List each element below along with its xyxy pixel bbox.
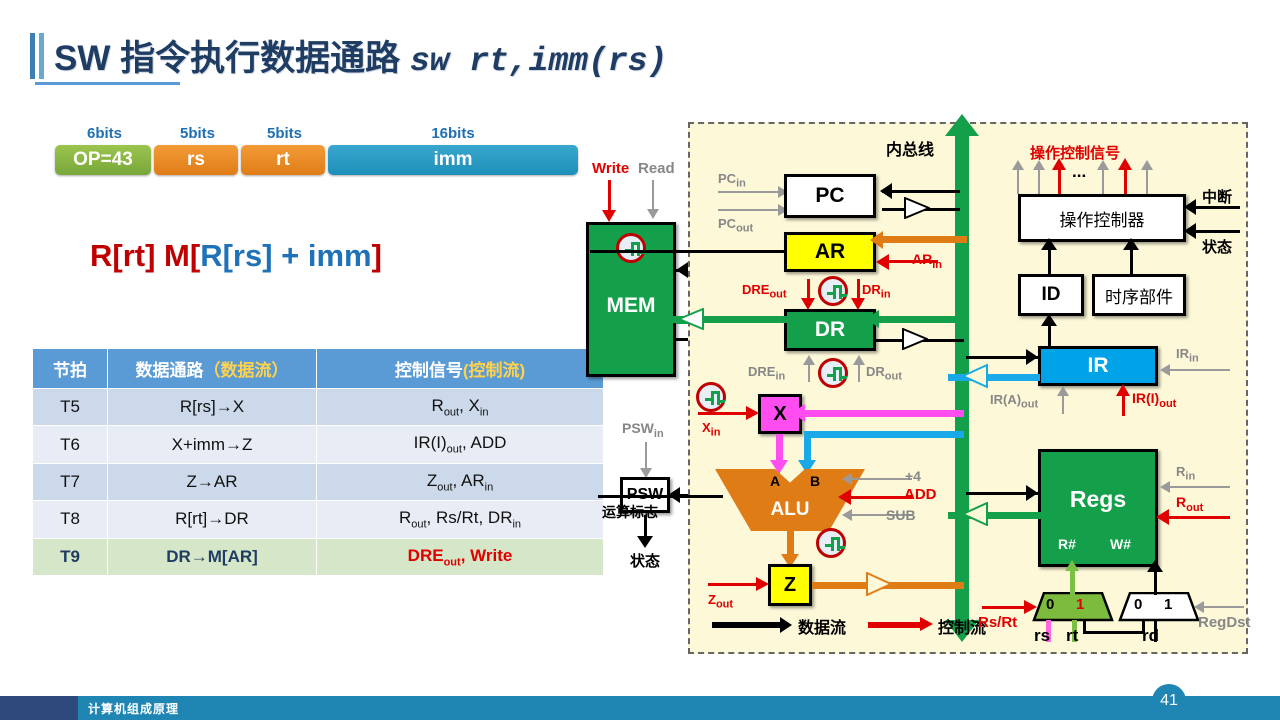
x-bus-in-arrow-icon xyxy=(792,404,805,422)
timing-to-controller-line xyxy=(1130,246,1133,274)
ctrl-sig-1-arrow-icon xyxy=(1012,160,1024,170)
ir-tristate-buffer-icon xyxy=(962,364,988,388)
th-datapath: 数据通路（数据流） xyxy=(108,349,317,389)
field-rt: rt xyxy=(241,145,325,175)
ar-in-label: ARin xyxy=(912,251,942,271)
internal-bus-label: 内总线 xyxy=(886,136,934,160)
formula-prefix: R[rt] M xyxy=(90,238,190,273)
regdst-ctrl-label: RegDst xyxy=(1198,614,1251,631)
interrupt-arrow-icon xyxy=(1184,199,1196,215)
legend-data-line xyxy=(712,622,782,628)
status-line xyxy=(1192,230,1240,233)
th-beat: 节拍 xyxy=(33,349,108,389)
ar-in-ctrl-arrow-icon xyxy=(876,254,889,270)
alu-sub-arrow-icon xyxy=(842,509,852,521)
status-arrow-icon xyxy=(1184,223,1196,239)
psw-in-line xyxy=(645,442,647,470)
pc-bus-in-line xyxy=(882,190,960,193)
field-op: OP=43 xyxy=(55,145,151,175)
footer-bar xyxy=(0,696,1280,720)
legend-ctrl-arrow-icon xyxy=(920,617,933,631)
ctrl-sig-6-arrow-icon xyxy=(1141,160,1153,170)
datapath-panel: 内总线 PCin PCout PC AR ARin DREout DRin DR xyxy=(688,122,1248,654)
clock-icon-mem xyxy=(616,233,646,263)
alu-sub-label: SUB xyxy=(886,507,916,523)
alu-plus4-arrow-icon xyxy=(842,473,852,485)
mem-write-arrow-icon xyxy=(602,210,616,222)
z-out-label: Zout xyxy=(708,592,733,611)
id-to-controller-arrow-icon xyxy=(1041,238,1057,250)
ar-to-mem-line xyxy=(590,250,786,253)
cell-beat: T8 xyxy=(33,501,108,538)
cell-datapath: R[rt]→DR xyxy=(108,501,317,538)
legend-data-label: 数据流 xyxy=(798,614,846,638)
slide-title: SW 指令执行数据通路 sw rt,imm(rs) xyxy=(30,30,667,81)
mem-write-line xyxy=(608,180,611,212)
ir-in-line xyxy=(1168,369,1230,371)
cell-beat: T7 xyxy=(33,463,108,500)
z-tristate-buffer-icon xyxy=(866,572,892,596)
z-out-ctrl-arrow-icon xyxy=(756,577,769,591)
dr-out-buffer-icon xyxy=(678,308,704,330)
ctrl-sig-4-arrow-icon xyxy=(1097,160,1109,170)
x-in-label: Xin xyxy=(702,420,720,439)
cell-datapath: Z→AR xyxy=(108,463,317,500)
rt-to-regdst-line xyxy=(1083,631,1145,634)
internal-bus-top-arrow-icon xyxy=(945,114,979,136)
x-in-ctrl-line xyxy=(698,412,750,415)
cell-control: DREout, Write xyxy=(317,538,604,575)
alu-plus4-line xyxy=(850,478,912,480)
ir-in-label: IRin xyxy=(1176,346,1199,365)
legend-data-arrow-icon xyxy=(780,617,792,633)
mux-rs-rt[interactable] xyxy=(1032,592,1114,622)
dr-bus-in-arrow-icon xyxy=(866,310,879,328)
cell-control: IR(I)out, ADD xyxy=(317,426,604,463)
alu-plus4-label: +4 xyxy=(905,468,921,484)
dr-to-mem-band xyxy=(640,316,790,323)
footer-course-title: 计算机组成原理 xyxy=(88,700,179,717)
ctrl-sig-3-arrow-icon xyxy=(1052,158,1066,170)
dr-tristate-buffer-icon xyxy=(902,328,928,350)
field-rs: rs xyxy=(154,145,238,175)
rs-label: rs xyxy=(1034,626,1050,646)
ctrl-sig-5 xyxy=(1124,166,1127,194)
alu-port-a-label: A xyxy=(770,473,780,489)
alu-flags-label: 运算标志 xyxy=(602,502,658,522)
rt-label: rt xyxy=(1066,626,1078,646)
table-row: T7 Z→AR Zout, ARin xyxy=(33,463,604,500)
ctrl-sig-2-arrow-icon xyxy=(1033,160,1045,170)
table-row: T6 X+imm→Z IR(I)out, ADD xyxy=(33,426,604,463)
title-mnemonic: sw rt,imm(rs) xyxy=(410,43,667,80)
clock-icon-dr-bottom xyxy=(818,358,848,388)
bus-to-alu-b-band xyxy=(804,431,964,438)
regs-r-out-line xyxy=(1168,516,1230,519)
bits-op: 6bits xyxy=(55,125,154,142)
mux-regdst-zero-label: 0 xyxy=(1134,596,1142,613)
psw-status-label: 状态 xyxy=(630,550,660,571)
pc-bus-in-arrow-icon xyxy=(880,183,892,199)
formula-close: ] xyxy=(372,238,382,273)
ir-a-out-arrow-icon xyxy=(1057,386,1069,396)
regs-r-out-label: Rout xyxy=(1176,494,1203,514)
bus-to-alu-b-drop xyxy=(804,431,811,463)
mem-read-label: Read xyxy=(638,160,675,177)
page-number-badge: 41 xyxy=(1152,684,1186,718)
regdst-ctrl-line xyxy=(1202,606,1244,608)
ctrl-sig-4 xyxy=(1102,166,1104,194)
instruction-fields: OP=43 rs rt imm xyxy=(55,145,581,175)
ir-to-id-arrow-icon xyxy=(1041,314,1057,326)
mux-rs-rt-one-label: 1 xyxy=(1076,596,1084,613)
x-bus-in-band xyxy=(802,410,964,417)
ctrl-sig-2 xyxy=(1038,166,1040,194)
dr-bus-in-band xyxy=(876,316,966,323)
mem-read-line xyxy=(652,180,654,212)
operation-controller-block: 操作控制器 xyxy=(1018,194,1186,242)
mux-rs-rt-output xyxy=(1070,567,1075,595)
regs-r-in-label: Rin xyxy=(1176,464,1195,483)
regs-read-port-label: R# xyxy=(1058,536,1076,552)
timing-to-controller-arrow-icon xyxy=(1123,238,1139,250)
dre-in-arrow-icon xyxy=(803,355,815,365)
dr-out-arrow-icon xyxy=(853,355,865,365)
regs-r-out-arrow-icon xyxy=(1156,509,1169,525)
table-row: T5 R[rs]→X Rout, Xin xyxy=(33,389,604,426)
mem-read-arrow-icon xyxy=(647,209,659,219)
cell-beat: T9 xyxy=(33,538,108,575)
alu-add-label: ADD xyxy=(904,486,937,503)
pc-register: PC xyxy=(784,174,876,218)
bits-rt: 5bits xyxy=(241,125,328,142)
cell-control: Rout, Xin xyxy=(317,389,604,426)
th-control: 控制信号(控制流) xyxy=(317,349,604,389)
alu-add-line xyxy=(850,496,912,499)
mux-regdst[interactable] xyxy=(1118,592,1200,622)
ctrl-sig-3 xyxy=(1058,166,1061,194)
cell-datapath: R[rs]→X xyxy=(108,389,317,426)
timing-table: 节拍 数据通路（数据流） 控制信号(控制流) T5 R[rs]→X Rout, … xyxy=(32,348,604,576)
pc-in-line xyxy=(718,191,780,193)
title-main: SW 指令执行数据通路 xyxy=(54,39,410,78)
cell-datapath: DR→M[AR] xyxy=(108,538,317,575)
ctrl-sig-6 xyxy=(1146,166,1148,194)
bus-to-ir-arrow-icon xyxy=(1026,349,1038,365)
dr-register: DR xyxy=(784,309,876,351)
title-accent-bars xyxy=(30,33,44,79)
rs-rt-ctrl-arrow-icon xyxy=(1024,600,1037,614)
mux-regdst-output-arrow-icon xyxy=(1147,560,1163,572)
formula-inner: R[rs] + imm xyxy=(200,238,371,273)
regs-r-in-line xyxy=(1168,486,1230,488)
formula-open: [ xyxy=(190,238,200,273)
cell-beat: T5 xyxy=(33,389,108,426)
table-row: T9 DR→M[AR] DREout, Write xyxy=(33,538,604,575)
ar-bus-in-arrow-icon xyxy=(870,231,883,249)
alu-flags-line xyxy=(598,495,723,498)
dre-in-line xyxy=(808,362,810,382)
slide-canvas: SW 指令执行数据通路 sw rt,imm(rs) 6bits 5bits 5b… xyxy=(0,0,1280,720)
pc-out-label: PCout xyxy=(718,216,753,235)
id-block: ID xyxy=(1018,274,1084,316)
table-header-row: 节拍 数据通路（数据流） 控制信号(控制流) xyxy=(33,349,604,389)
regs-write-port-label: W# xyxy=(1110,536,1131,552)
dr-in-label: DRin xyxy=(862,282,891,301)
instruction-bit-widths: 6bits 5bits 5bits 16bits xyxy=(55,125,581,142)
rd-label: rd xyxy=(1142,626,1159,646)
alu-port-b-label: B xyxy=(810,473,820,489)
cell-beat: T6 xyxy=(33,426,108,463)
rt-branch-up xyxy=(1083,620,1086,634)
bus-to-regs-arrow-icon xyxy=(1026,485,1038,501)
rs-rt-ctrl-label: Rs/Rt xyxy=(978,614,1017,631)
semantics-formula: R[rt] M[R[rs] + imm] xyxy=(90,238,382,274)
regdst-ctrl-arrow-icon xyxy=(1194,601,1204,613)
mux-rs-rt-zero-label: 0 xyxy=(1046,596,1054,613)
cell-datapath: X+imm→Z xyxy=(108,426,317,463)
regs-tristate-buffer-icon xyxy=(962,502,988,526)
pc-tristate-buffer-icon xyxy=(904,197,930,219)
interrupt-line xyxy=(1192,206,1240,209)
status-label: 状态 xyxy=(1202,236,1232,257)
title-text: SW 指令执行数据通路 sw rt,imm(rs) xyxy=(54,30,667,81)
pc-out-line xyxy=(718,209,780,211)
ir-i-out-label: IR(I)out xyxy=(1132,390,1176,410)
clock-icon-x xyxy=(696,382,726,412)
rs-rt-ctrl-line xyxy=(982,606,1028,609)
dr-out-label: DRout xyxy=(866,364,902,383)
ir-register: IR xyxy=(1038,346,1158,386)
ar-register: AR xyxy=(784,232,876,272)
bits-imm: 16bits xyxy=(328,125,578,142)
title-underline xyxy=(35,82,180,85)
register-file-block: Regs xyxy=(1038,449,1158,567)
id-to-controller-line xyxy=(1048,246,1051,274)
legend-ctrl-line xyxy=(868,622,922,628)
mux-regdst-one-label: 1 xyxy=(1164,596,1172,613)
mux-rs-rt-output-arrow-icon xyxy=(1065,560,1079,571)
z-register: Z xyxy=(768,564,812,606)
ar-bus-in-band xyxy=(882,236,967,243)
control-signals-ellipsis: ... xyxy=(1072,162,1086,182)
regs-r-in-arrow-icon xyxy=(1160,481,1170,493)
psw-in-label: PSWin xyxy=(622,420,664,440)
ir-i-out-arrow-icon xyxy=(1116,384,1130,396)
ir-a-out-label: IR(A)out xyxy=(990,392,1038,411)
timing-block: 时序部件 xyxy=(1092,274,1186,316)
bits-rs: 5bits xyxy=(154,125,241,142)
footer-accent xyxy=(0,696,78,720)
psw-out-arrow-icon xyxy=(637,536,653,548)
ctrl-sig-5-arrow-icon xyxy=(1118,158,1132,170)
clock-icon-z xyxy=(816,528,846,558)
clock-icon-dr-top xyxy=(818,276,848,306)
pc-in-label: PCin xyxy=(718,171,746,190)
dre-in-label: DREin xyxy=(748,364,785,383)
dr-out-line xyxy=(858,362,860,382)
ir-in-arrow-icon xyxy=(1160,364,1170,376)
field-imm: imm xyxy=(328,145,578,175)
interrupt-label: 中断 xyxy=(1202,186,1232,207)
table-row: T8 R[rt]→DR Rout, Rs/Rt, DRin xyxy=(33,501,604,538)
mem-in-arrow-icon xyxy=(676,262,688,278)
cell-control: Rout, Rs/Rt, DRin xyxy=(317,501,604,538)
dre-out-label: DREout xyxy=(742,282,787,301)
cell-control: Zout, ARin xyxy=(317,463,604,500)
ctrl-sig-1 xyxy=(1017,166,1019,194)
instruction-format: 6bits 5bits 5bits 16bits OP=43 rs rt imm xyxy=(55,125,581,175)
alu-add-arrow-icon xyxy=(838,489,851,505)
mem-write-label: Write xyxy=(592,160,629,177)
